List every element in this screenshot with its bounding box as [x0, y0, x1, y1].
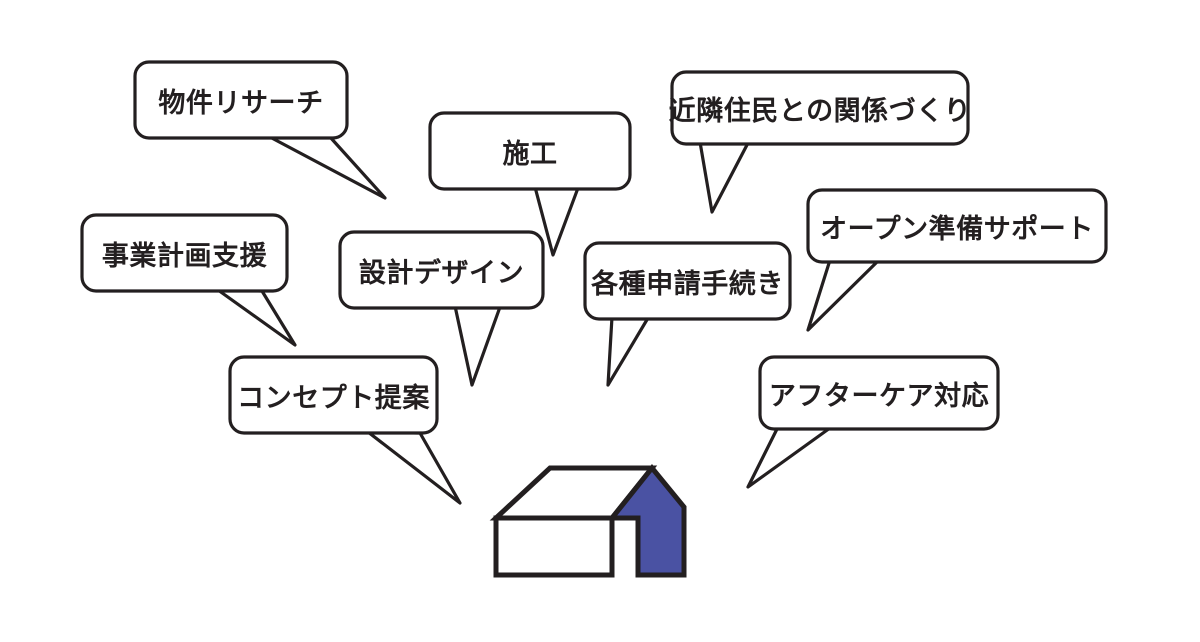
bubble-kinrin-jumin-tail [700, 142, 748, 212]
diagram-canvas [0, 0, 1200, 642]
bubble-sekkei-design-box[interactable] [340, 232, 543, 308]
service-bubble-diagram: 物件リサーチ事業計画支援コンセプト提案設計デザイン施工各種申請手続き近隣住民との… [0, 0, 1200, 642]
bubble-open-junbi-support-tail [808, 260, 878, 330]
bubble-concept-teian-box[interactable] [230, 357, 437, 433]
bubble-aftercare-taio-tail [748, 427, 830, 487]
house-icon [496, 468, 684, 575]
bubble-jigyo-keikaku-shien-box[interactable] [82, 215, 287, 291]
bubble-bukken-research-tail [268, 136, 385, 198]
bubble-kakushu-shinsei[interactable] [585, 243, 790, 385]
bubble-concept-teian-tail [368, 432, 460, 503]
bubble-seko-box[interactable] [430, 113, 630, 189]
bubble-jigyo-keikaku-shien-tail [218, 290, 295, 345]
house-front-wall [496, 518, 612, 575]
bubble-bukken-research[interactable] [135, 62, 385, 198]
bubble-bukken-research-box[interactable] [135, 62, 347, 138]
bubble-sekkei-design-tail [455, 306, 500, 385]
bubble-open-junbi-support[interactable] [808, 190, 1106, 330]
bubble-aftercare-taio-box[interactable] [760, 357, 998, 429]
bubble-jigyo-keikaku-shien[interactable] [82, 215, 295, 345]
bubble-open-junbi-support-box[interactable] [808, 190, 1106, 262]
bubble-kakushu-shinsei-box[interactable] [585, 243, 790, 319]
bubble-concept-teian[interactable] [230, 357, 460, 503]
bubble-kinrin-jumin-box[interactable] [672, 72, 968, 144]
bubble-kakushu-shinsei-tail [608, 317, 648, 385]
bubble-aftercare-taio[interactable] [748, 357, 998, 487]
bubbles-layer [82, 62, 1106, 503]
